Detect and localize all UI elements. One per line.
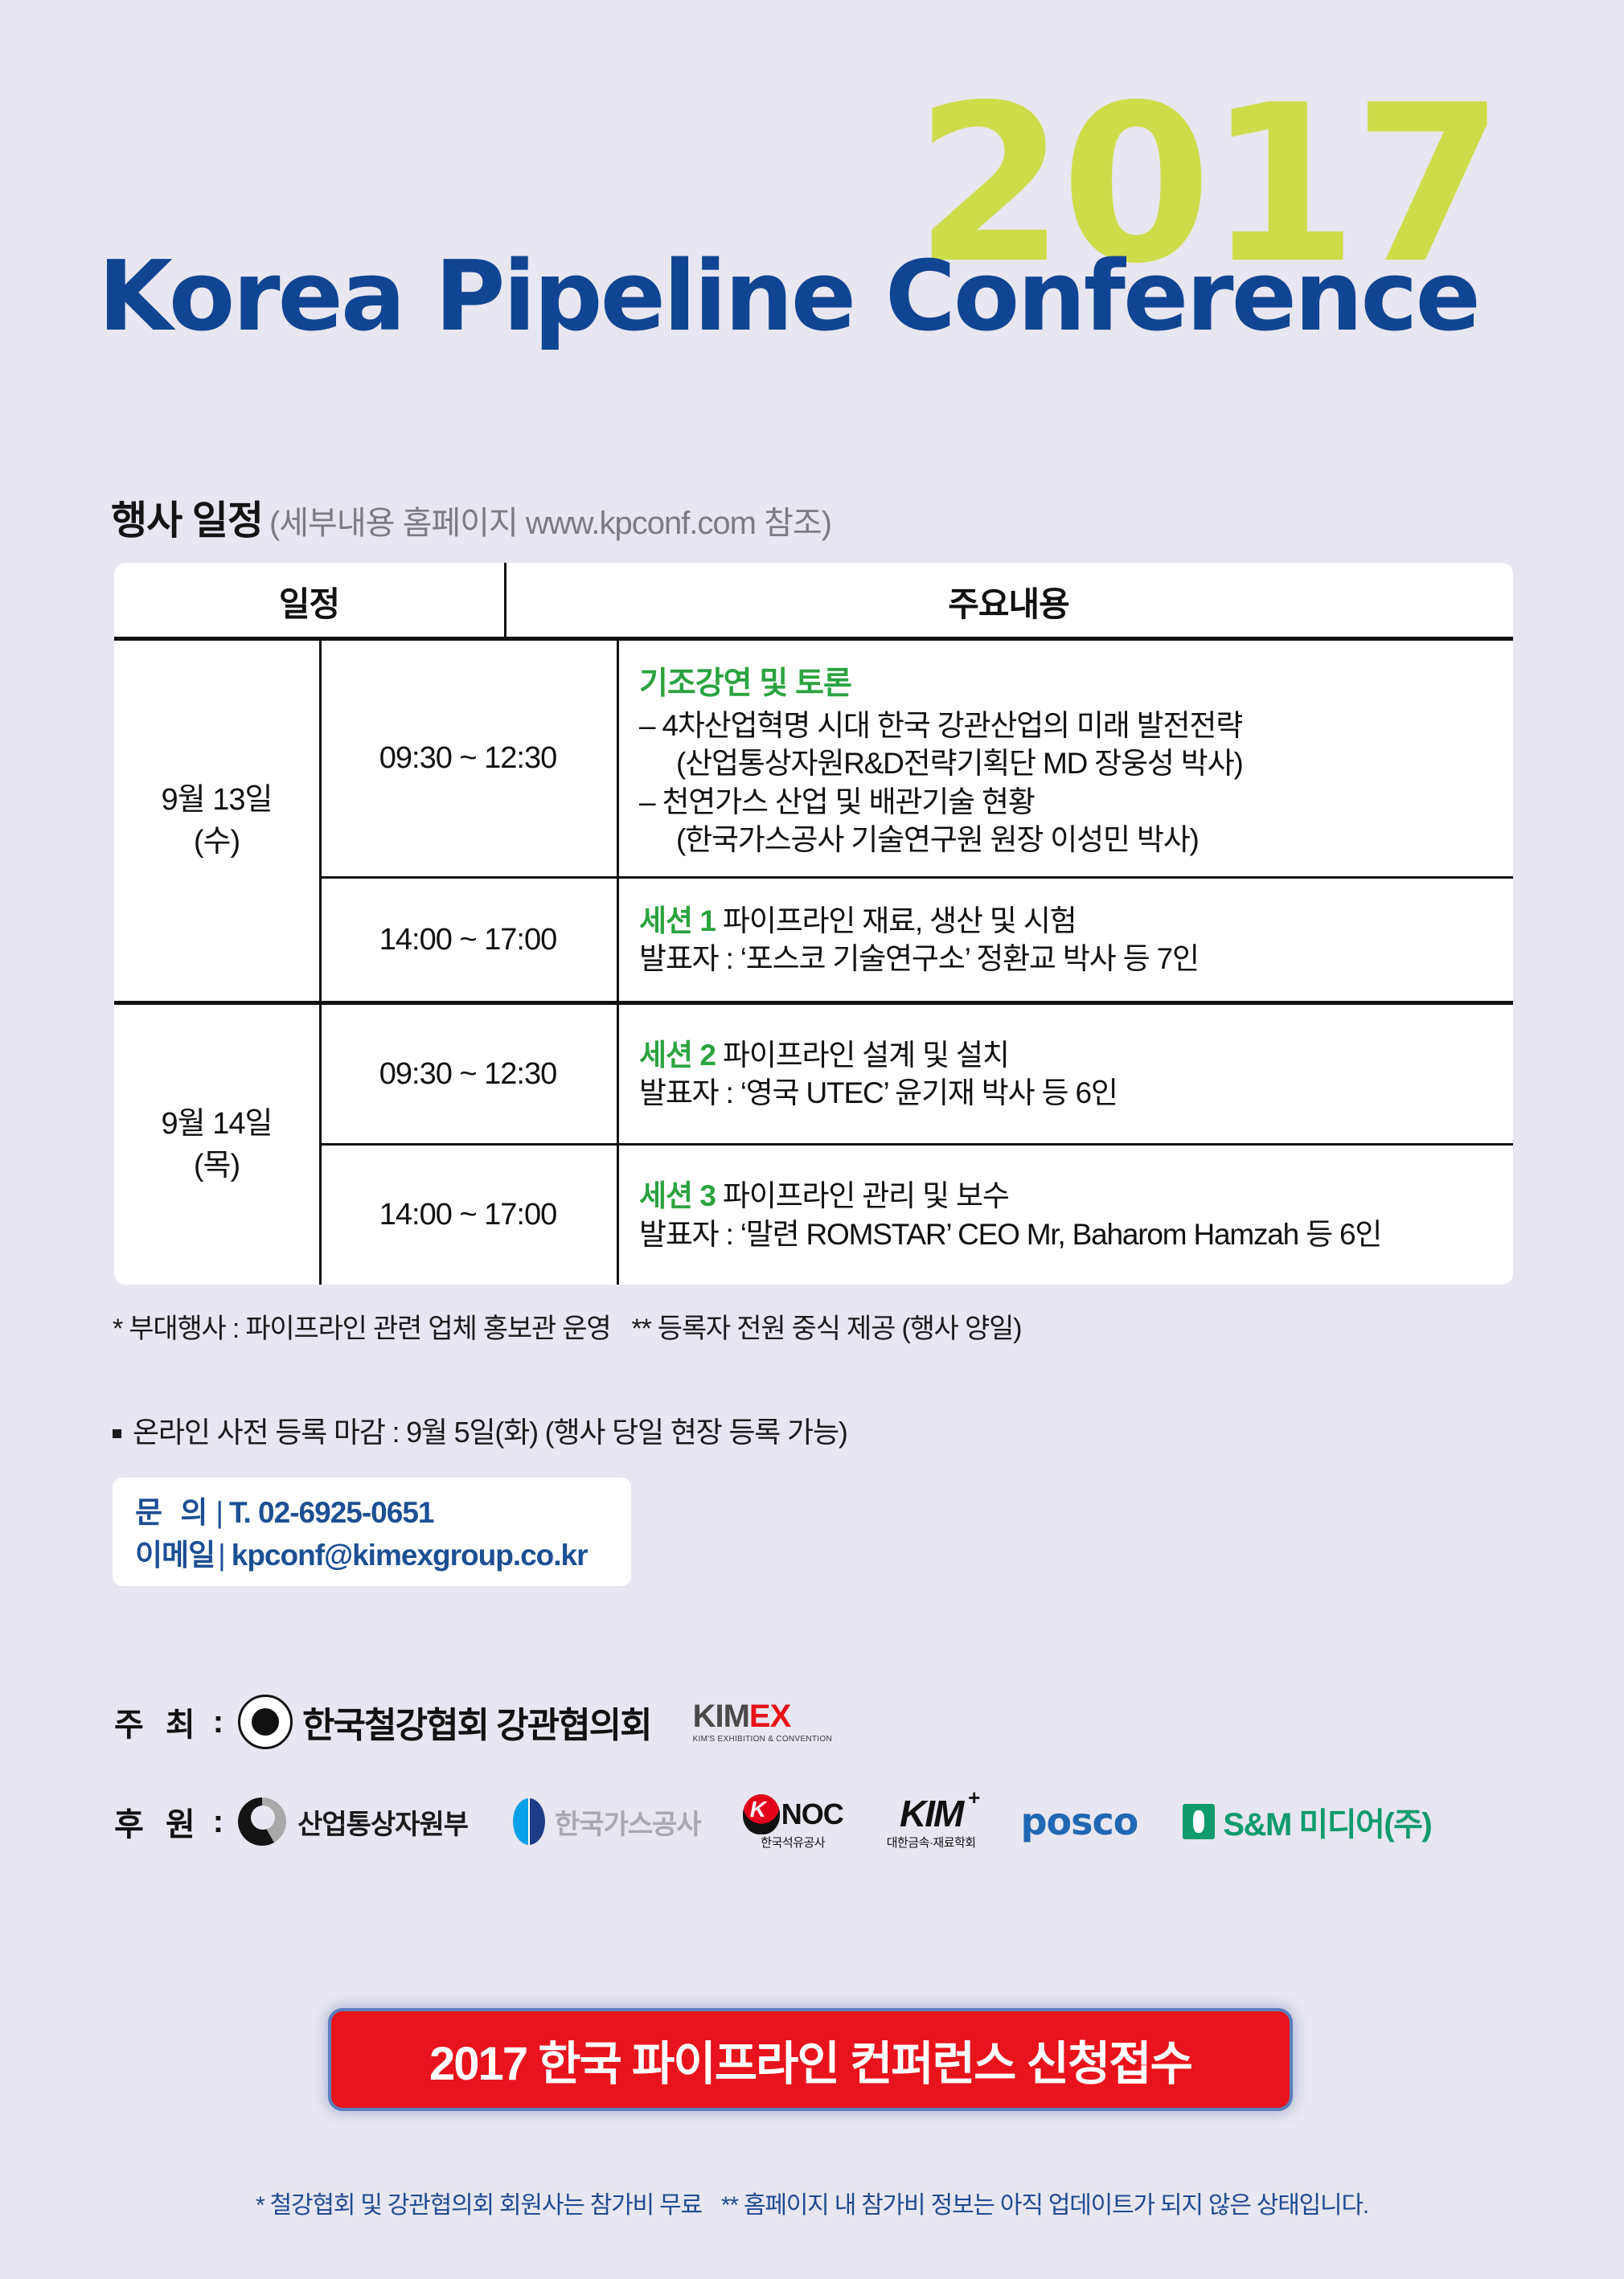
schedule-heading: 행사 일정(세부내용 홈페이지 www.kpconf.com 참조) <box>111 489 831 546</box>
snm-emblem-icon <box>1183 1804 1215 1839</box>
footer-note-2: ** 홈페이지 내 참가비 정보는 아직 업데이트가 되지 않은 상태입니다. <box>721 2192 1368 2219</box>
table-cell-content-r4: 세션 3 파이프라인 관리 및 보수 발표자 : ‘말련 ROMSTAR’ CE… <box>617 1146 1513 1285</box>
kogas-logo-icon: 한국가스공사 <box>513 1798 701 1845</box>
host-label: 주 최 <box>114 1699 202 1745</box>
kimex-wordmark: KIMEX <box>693 1700 791 1732</box>
apply-button[interactable]: 2017 한국 파이프라인 컨퍼런스 신청접수 <box>328 2008 1293 2111</box>
contact-email-value[interactable]: kpconf@kimexgroup.co.kr <box>232 1539 588 1572</box>
table-cell-content-r1: 기조강연 및 토론 – 4차산업혁명 시대 한국 강관산업의 미래 발전전략 (… <box>617 641 1513 876</box>
kimex-tagline: KIM'S EXHIBITION & CONVENTION <box>693 1736 832 1744</box>
knoc-name: NOC <box>781 1800 843 1829</box>
date-day2-line1: 9월 14일 <box>162 1103 273 1145</box>
contact-phone-line: 문 의|T. 02-6925-0651 <box>135 1492 631 1535</box>
supporters-row: 후 원 : 산업통상자원부 한국가스공사 NOC 한국석유공사 KIM+ 대한금… <box>114 1794 1431 1849</box>
session1-title: 파이프라인 재료, 생산 및 시험 <box>723 904 1076 937</box>
session3-heading: 세션 3 파이프라인 관리 및 보수 <box>639 1177 1513 1215</box>
session3-title: 파이프라인 관리 및 보수 <box>723 1179 1009 1212</box>
table-cell-date-day2: 9월 14일 (목) <box>114 1005 319 1285</box>
kimex-prefix: KIM <box>693 1699 749 1734</box>
kim-wordmark: KIM+ <box>900 1795 962 1832</box>
session3-presenter: 발표자 : ‘말련 ROMSTAR’ CEO Mr, Baharom Hamza… <box>639 1215 1513 1253</box>
table-cell-time-r3: 09:30 ~ 12:30 <box>319 1005 617 1143</box>
table-cell-date-day1: 9월 13일 (수) <box>114 641 319 1001</box>
host-row: 주 최 : 한국철강협회 강관협의회 KIMEX KIM'S EXHIBITIO… <box>114 1695 832 1749</box>
table-body: 9월 13일 (수) 09:30 ~ 12:30 기조강연 및 토론 – 4차산… <box>114 641 1513 1285</box>
keynote-item-2-speaker: (한국가스공사 기술연구원 원장 이성민 박사) <box>639 821 1513 859</box>
motie-logo-icon: 산업통상자원부 <box>238 1797 468 1846</box>
contact-email-label: 이메일 <box>135 1539 215 1572</box>
poster-root: 2017 Korea Pipeline Conference 행사 일정(세부내… <box>0 0 1624 2279</box>
table-header-row: 일정 주요내용 <box>114 563 1513 641</box>
snm-media-logo-icon: S&M 미디어(주) <box>1183 1798 1431 1845</box>
host-colon: : <box>213 1704 224 1740</box>
table-cell-time-r1: 09:30 ~ 12:30 <box>319 641 617 876</box>
knoc-emblem-icon <box>743 1794 780 1834</box>
table-cell-time-r2: 14:00 ~ 17:00 <box>319 879 617 1001</box>
kim-plus-icon: + <box>968 1787 978 1808</box>
support-colon: : <box>213 1804 224 1840</box>
support-label: 후 원 <box>114 1798 202 1845</box>
session1-label: 세션 1 <box>639 904 716 937</box>
kogas-emblem-icon <box>513 1798 545 1845</box>
column-header-content: 주요내용 <box>504 577 1513 626</box>
contact-email-line: 이메일|kpconf@kimexgroup.co.kr <box>135 1535 631 1577</box>
session1-presenter: 발표자 : ‘포스코 기술연구소’ 정환교 박사 등 7인 <box>639 940 1513 978</box>
contact-separator-1: | <box>215 1496 223 1529</box>
contact-separator-2: | <box>218 1539 225 1572</box>
kosa-logo: 한국철강협회 강관협의회 <box>238 1695 651 1749</box>
kogas-name: 한국가스공사 <box>555 1802 701 1842</box>
kosa-name: 한국철강협회 강관협의회 <box>302 1696 651 1748</box>
contact-box: 문 의|T. 02-6925-0651 이메일|kpconf@kimexgrou… <box>113 1478 631 1586</box>
table-cell-time-r4: 14:00 ~ 17:00 <box>319 1146 617 1285</box>
date-day1-line2: (수) <box>162 821 273 863</box>
kimex-logo-icon: KIMEX KIM'S EXHIBITION & CONVENTION <box>693 1700 832 1744</box>
schedule-heading-main: 행사 일정 <box>111 499 263 543</box>
snm-name: S&M 미디어(주) <box>1223 1798 1431 1845</box>
keynote-item-2: – 천연가스 산업 및 배관기술 현황 <box>639 783 1513 821</box>
note-registration-text: 온라인 사전 등록 마감 : 9월 5일(화) (행사 당일 현장 등록 가능) <box>133 1416 847 1449</box>
square-bullet-icon <box>113 1429 121 1438</box>
contact-phone-label: 문 의 <box>135 1496 212 1529</box>
session2-title: 파이프라인 설계 및 설치 <box>723 1039 1009 1072</box>
contact-phone-value[interactable]: T. 02-6925-0651 <box>229 1496 433 1529</box>
date-day1-line1: 9월 13일 <box>162 779 273 821</box>
conference-title: Korea Pipeline Conference <box>98 249 1478 346</box>
knoc-subtitle: 한국석유공사 <box>761 1837 825 1849</box>
masthead: 2017 Korea Pipeline Conference <box>0 0 1624 434</box>
schedule-heading-sub: (세부내용 홈페이지 www.kpconf.com 참조) <box>269 506 831 541</box>
knoc-logo-icon: NOC 한국석유공사 <box>743 1794 843 1849</box>
table-cell-content-r3: 세션 2 파이프라인 설계 및 설치 발표자 : ‘영국 UTEC’ 윤기재 박… <box>617 1005 1513 1143</box>
session3-label: 세션 3 <box>639 1179 716 1212</box>
keynote-title: 기조강연 및 토론 <box>639 658 1513 703</box>
kim-logo-icon: KIM+ 대한금속·재료학회 <box>887 1795 976 1849</box>
motie-emblem-icon <box>238 1797 286 1846</box>
apply-button-label: 2017 한국 파이프라인 컨퍼런스 신청접수 <box>429 2026 1191 2093</box>
keynote-item-1-speaker: (산업통상자원R&D전략기획단 MD 장웅성 박사) <box>639 744 1513 782</box>
column-header-date: 일정 <box>114 577 504 626</box>
session2-presenter: 발표자 : ‘영국 UTEC’ 윤기재 박사 등 6인 <box>639 1074 1513 1112</box>
note-registration: 온라인 사전 등록 마감 : 9월 5일(화) (행사 당일 현장 등록 가능) <box>113 1409 847 1451</box>
date-day2-line2: (목) <box>162 1145 273 1187</box>
kim-subtitle: 대한금속·재료학회 <box>887 1837 976 1849</box>
kimex-accent: EX <box>749 1699 790 1734</box>
kim-name: KIM <box>900 1793 962 1834</box>
posco-logo-icon: posco <box>1021 1800 1138 1843</box>
footer-note-1: * 철강협회 및 강관협의회 회원사는 참가비 무료 <box>256 2192 702 2219</box>
session1-heading: 세션 1 파이프라인 재료, 생산 및 시험 <box>639 902 1513 940</box>
kosa-seal-icon <box>238 1695 293 1749</box>
note-side-event-text: * 부대행사 : 파이프라인 관련 업체 홍보관 운영 <box>113 1314 610 1344</box>
session2-label: 세션 2 <box>639 1039 716 1072</box>
note-lunch-text: ** 등록자 전원 중식 제공 (행사 양일) <box>631 1314 1021 1344</box>
footer-notes: * 철강협회 및 강관협의회 회원사는 참가비 무료** 홈페이지 내 참가비 … <box>0 2185 1624 2220</box>
session2-heading: 세션 2 파이프라인 설계 및 설치 <box>639 1036 1513 1074</box>
note-side-events: * 부대행사 : 파이프라인 관련 업체 홍보관 운영** 등록자 전원 중식 … <box>113 1306 1021 1346</box>
schedule-table: 일정 주요내용 9월 13일 (수) 09:30 ~ 12:30 기조강연 및 … <box>114 563 1513 1285</box>
motie-name: 산업통상자원부 <box>297 1802 468 1842</box>
table-cell-content-r2: 세션 1 파이프라인 재료, 생산 및 시험 발표자 : ‘포스코 기술연구소’… <box>617 879 1513 1001</box>
knoc-wordmark: NOC <box>743 1794 843 1834</box>
keynote-item-1: – 4차산업혁명 시대 한국 강관산업의 미래 발전전략 <box>639 707 1513 744</box>
